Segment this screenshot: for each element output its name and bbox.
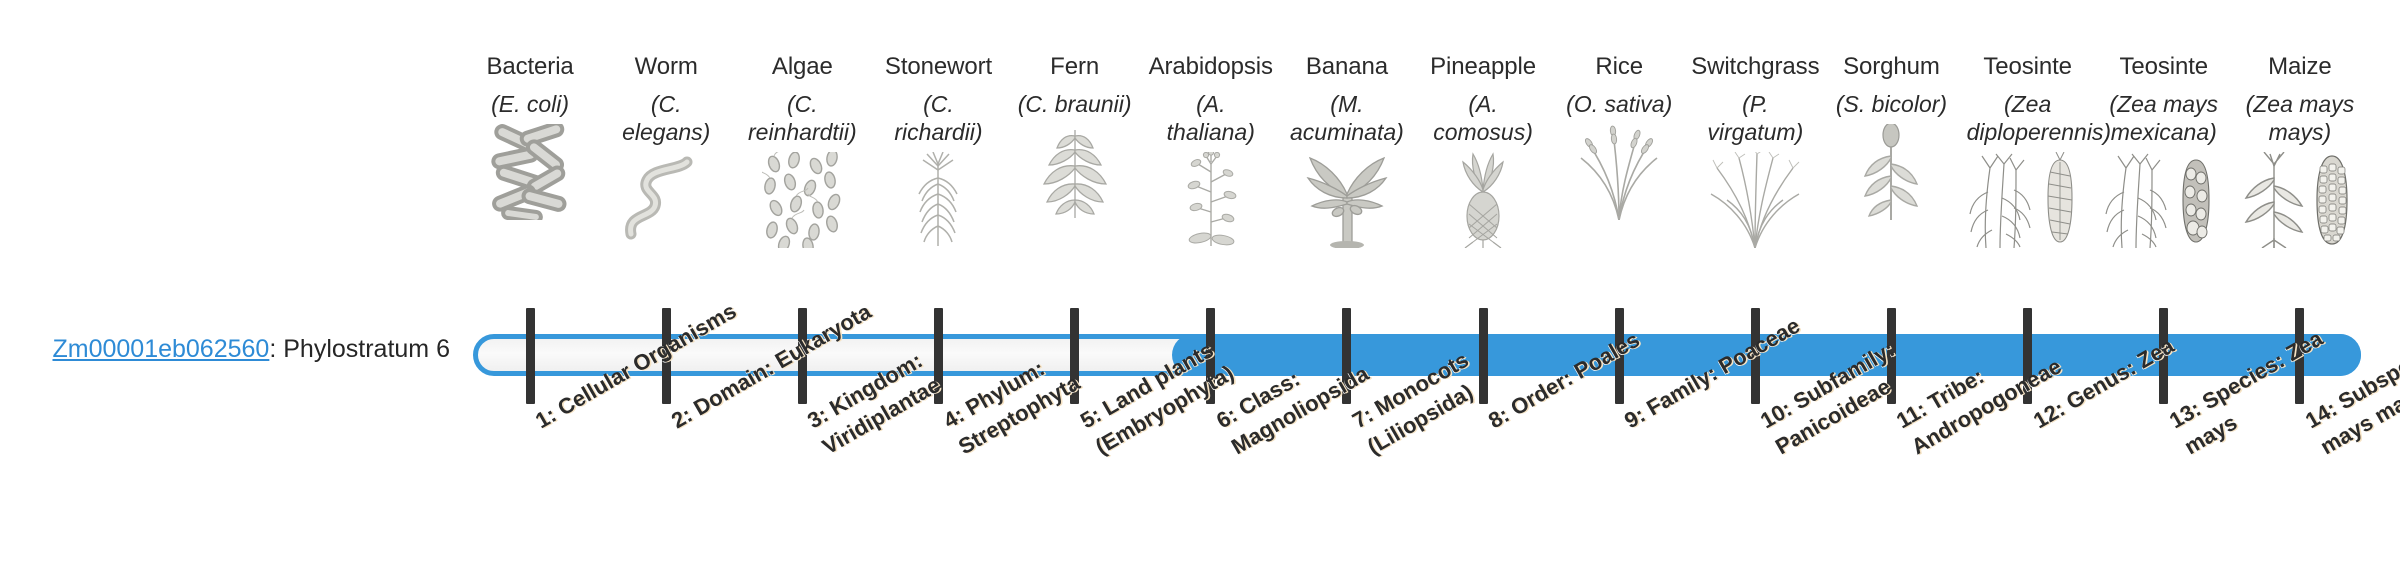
maize-plant-cob-icon	[2232, 152, 2368, 248]
nematode-worm-icon	[598, 152, 734, 248]
switchgrass-icon	[1687, 152, 1823, 248]
species-column-maize: Maize (Zea mays mays)	[2232, 52, 2368, 248]
species-column-worm: Worm (C. elegans)	[598, 52, 734, 248]
gene-phylostratum-label: Zm00001eb062560: Phylostratum 6	[30, 333, 450, 365]
stratum-cell: 13: Species: Zea mays	[2096, 404, 2232, 580]
species-common-name: Worm	[635, 52, 698, 82]
species-common-name: Fern	[1050, 52, 1099, 82]
stratum-cell: 8: Order: Poales	[1415, 404, 1551, 580]
species-column-teosinte-mexicana: Teosinte (Zea mays mexicana)	[2096, 52, 2232, 248]
stonewort-plant-icon	[870, 152, 1006, 248]
species-latin-name: (E. coli)	[491, 90, 569, 118]
stratum-cell: 7: Monocots (Liliopsida)	[1279, 404, 1415, 580]
stratum-cell: 12: Genus: Zea	[1960, 404, 2096, 580]
species-column-stonewort: Stonewort (C. richardii)	[870, 52, 1006, 248]
species-column-algae: Algae (C. reinhardtii)	[734, 52, 870, 248]
arabidopsis-plant-icon	[1143, 152, 1279, 248]
species-common-name: Bacteria	[486, 52, 573, 82]
species-column-fern: Fern (C. braunii)	[1007, 52, 1143, 220]
stratum-tick-1	[526, 308, 535, 404]
gene-label-separator: :	[269, 335, 283, 363]
banana-tree-icon	[1279, 152, 1415, 248]
species-common-name: Stonewort	[885, 52, 992, 82]
species-latin-name: (P. virgatum)	[1694, 90, 1816, 146]
species-latin-name: (C. elegans)	[605, 90, 727, 146]
stratum-cell: 9: Family: Poaceae	[1551, 404, 1687, 580]
stratum-cell: 1: Cellular Organisms	[462, 404, 598, 580]
species-column-switchgrass: Switchgrass (P. virgatum)	[1687, 52, 1823, 248]
species-common-name: Switchgrass	[1691, 52, 1819, 82]
species-common-name: Pineapple	[1430, 52, 1536, 82]
species-latin-name: (M. acuminata)	[1286, 90, 1408, 146]
species-latin-name: (O. sativa)	[1566, 90, 1672, 118]
rice-grass-icon	[1551, 124, 1687, 220]
species-latin-name: (A. thaliana)	[1150, 90, 1272, 146]
species-latin-name: (Zea mays mexicana)	[2103, 90, 2225, 146]
species-common-name: Teosinte	[1983, 52, 2072, 82]
species-latin-name: (C. richardii)	[877, 90, 999, 146]
stratum-cell: 5: Land plants (Embryophyta)	[1007, 404, 1143, 580]
gene-id-link[interactable]: Zm00001eb062560	[52, 335, 269, 363]
phylostratigraphy-figure: Zm00001eb062560: Phylostratum 6 Bacteria…	[0, 0, 2400, 580]
species-latin-name: (A. comosus)	[1422, 90, 1544, 146]
species-latin-name: (C. braunii)	[1018, 90, 1132, 118]
species-common-name: Maize	[2268, 52, 2332, 82]
species-column-teosinte-diploperennis: Teosinte (Zea diploperennis)	[1960, 52, 2096, 248]
stratum-cell: 3: Kingdom: Viridiplantae	[734, 404, 870, 580]
species-latin-name: (S. bicolor)	[1836, 90, 1947, 118]
species-column-sorghum: Sorghum (S. bicolor)	[1823, 52, 1959, 220]
stratum-cell: 10: Subfamily: Panicoideae	[1687, 404, 1823, 580]
species-latin-name: (Zea mays mays)	[2239, 90, 2361, 146]
species-column-pineapple: Pineapple (A. comosus)	[1415, 52, 1551, 248]
stratum-cell: 6: Class: Magnoliopsida	[1143, 404, 1279, 580]
species-column-banana: Banana (M. acuminata)	[1279, 52, 1415, 248]
teosinte-plant-ear-icon	[1960, 152, 2096, 248]
algae-cells-icon	[734, 152, 870, 248]
stratum-cell: 14: Subspecies: Zea mays mays	[2232, 404, 2368, 580]
species-common-name: Banana	[1306, 52, 1388, 82]
phylostratum-value: Phylostratum 6	[283, 335, 450, 363]
stratum-cell: 2: Domain: Eukaryota	[598, 404, 734, 580]
species-common-name: Sorghum	[1843, 52, 1940, 82]
species-header-row: Bacteria (E. coli)	[462, 52, 2368, 302]
species-common-name: Rice	[1595, 52, 1643, 82]
species-common-name: Teosinte	[2119, 52, 2208, 82]
species-common-name: Arabidopsis	[1149, 52, 1273, 82]
pineapple-plant-icon	[1415, 152, 1551, 248]
teosinte-mexicana-ear-icon	[2096, 152, 2232, 248]
species-column-rice: Rice (O. sativa)	[1551, 52, 1687, 220]
stratum-label-row: 1: Cellular Organisms 2: Domain: Eukaryo…	[462, 404, 2368, 580]
species-latin-name: (C. reinhardtii)	[741, 90, 863, 146]
bacteria-rods-icon	[462, 124, 598, 220]
species-latin-name: (Zea diploperennis)	[1967, 90, 2089, 146]
species-column-bacteria: Bacteria (E. coli)	[462, 52, 598, 220]
fern-frond-icon	[1007, 124, 1143, 220]
sorghum-plant-icon	[1823, 124, 1959, 220]
stratum-cell: 11: Tribe: Andropogoneae	[1823, 404, 1959, 580]
species-column-arabidopsis: Arabidopsis (A. thaliana)	[1143, 52, 1279, 248]
stratum-cell: 4: Phylum: Streptophyta	[870, 404, 1006, 580]
species-common-name: Algae	[772, 52, 833, 82]
